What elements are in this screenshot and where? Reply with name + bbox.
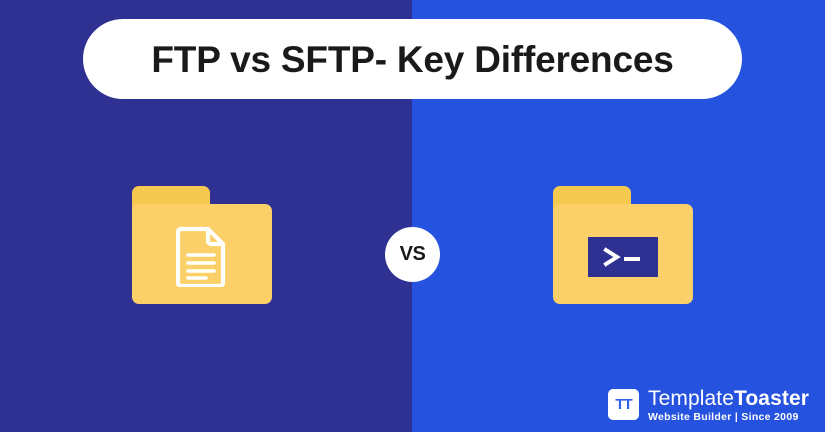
sftp-folder bbox=[553, 186, 693, 304]
page-title: FTP vs SFTP- Key Differences bbox=[151, 41, 673, 78]
vs-badge: VS bbox=[385, 227, 440, 282]
folder-body bbox=[553, 204, 693, 304]
vs-label: VS bbox=[400, 243, 426, 266]
folder-body bbox=[132, 204, 272, 304]
banner-graphic: FTP vs SFTP- Key Differences bbox=[0, 0, 825, 432]
document-icon bbox=[176, 225, 228, 287]
terminal-icon bbox=[600, 246, 646, 268]
title-pill: FTP vs SFTP- Key Differences bbox=[83, 19, 742, 99]
ftp-folder bbox=[132, 186, 272, 304]
logo-text-block: TemplateToaster Website Builder | Since … bbox=[648, 388, 809, 423]
logo-name-light: Template bbox=[648, 387, 734, 410]
brand-logo[interactable]: TT TemplateToaster Website Builder | Sin… bbox=[608, 388, 809, 423]
terminal-window bbox=[588, 237, 658, 277]
logo-mark-text: TT bbox=[615, 396, 631, 413]
logo-name: TemplateToaster bbox=[648, 388, 809, 409]
logo-name-bold: Toaster bbox=[734, 387, 809, 410]
logo-tagline: Website Builder | Since 2009 bbox=[648, 412, 809, 423]
logo-mark-icon: TT bbox=[608, 389, 639, 420]
